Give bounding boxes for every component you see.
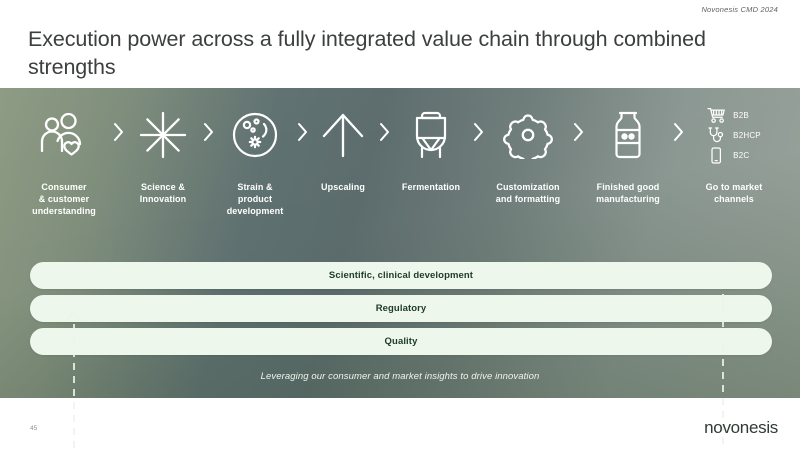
channel-label: B2HCP xyxy=(733,131,761,140)
shopping-cart-icon xyxy=(707,107,726,124)
channels-group-icon: B2B B2HCP xyxy=(707,102,761,168)
value-chain: Consumer & customer understanding Scienc… xyxy=(18,102,782,247)
chain-step-consumer-customer-understanding[interactable]: Consumer & customer understanding xyxy=(18,102,110,218)
chain-step-label: Finished good manufacturing xyxy=(596,182,660,206)
bottle-icon xyxy=(608,102,648,168)
chain-step-customization-and-formatting[interactable]: Customization and formatting xyxy=(486,102,570,206)
slide: Novonesis CMD 2024 Execution power acros… xyxy=(0,0,800,450)
chain-step-upscaling[interactable]: Upscaling xyxy=(310,102,376,194)
starburst-icon xyxy=(138,102,188,168)
deck-eyebrow: Novonesis CMD 2024 xyxy=(701,5,778,14)
fermentation-tank-icon xyxy=(409,102,453,168)
chevron-right-icon xyxy=(294,102,310,142)
channel-label: B2C xyxy=(733,151,749,160)
chain-step-label: Upscaling xyxy=(321,182,365,194)
page-number: 45 xyxy=(30,425,37,432)
gradient-band: Consumer & customer understanding Scienc… xyxy=(0,88,800,398)
page-title: Execution power across a fully integrate… xyxy=(28,26,768,81)
chain-step-label: Customization and formatting xyxy=(496,182,560,206)
chain-step-fermentation[interactable]: Fermentation xyxy=(392,102,470,194)
chain-step-strain-product-development[interactable]: Strain & product development xyxy=(216,102,294,218)
chevron-right-icon xyxy=(200,102,216,142)
stethoscope-icon xyxy=(707,127,726,144)
chain-step-science-innovation[interactable]: Science & Innovation xyxy=(126,102,200,206)
chevron-right-icon xyxy=(570,102,586,142)
people-heart-icon xyxy=(38,102,90,168)
channel-row-b2c[interactable]: B2C xyxy=(707,147,761,164)
chain-step-go-to-market-channels[interactable]: B2B B2HCP xyxy=(686,102,782,206)
chain-step-label: Consumer & customer understanding xyxy=(32,182,96,218)
chain-step-label: Science & Innovation xyxy=(140,182,187,206)
gear-icon xyxy=(503,102,553,168)
channel-label: B2B xyxy=(733,111,749,120)
petri-dish-icon xyxy=(230,102,280,168)
chain-step-label: Strain & product development xyxy=(227,182,284,218)
chain-step-label: Fermentation xyxy=(402,182,460,194)
chevron-right-icon xyxy=(376,102,392,142)
channel-row-b2b[interactable]: B2B xyxy=(707,107,761,124)
channel-row-b2hcp[interactable]: B2HCP xyxy=(707,127,761,144)
pill-quality[interactable]: Quality xyxy=(30,328,772,355)
chevron-right-icon xyxy=(670,102,686,142)
chevron-right-icon xyxy=(110,102,126,142)
chevron-right-icon xyxy=(470,102,486,142)
pill-scientific-clinical-development[interactable]: Scientific, clinical development xyxy=(30,262,772,289)
mobile-phone-icon xyxy=(707,147,726,164)
novonesis-logo: novonesis xyxy=(704,418,778,438)
feedback-loop-caption: Leveraging our consumer and market insig… xyxy=(0,371,800,382)
chain-step-finished-good-manufacturing[interactable]: Finished good manufacturing xyxy=(586,102,670,206)
capability-pills: Scientific, clinical development Regulat… xyxy=(30,262,772,355)
pill-regulatory[interactable]: Regulatory xyxy=(30,295,772,322)
channels-list: B2B B2HCP xyxy=(707,102,761,168)
chain-step-label: Go to market channels xyxy=(706,182,763,206)
up-arrow-icon xyxy=(320,102,366,168)
